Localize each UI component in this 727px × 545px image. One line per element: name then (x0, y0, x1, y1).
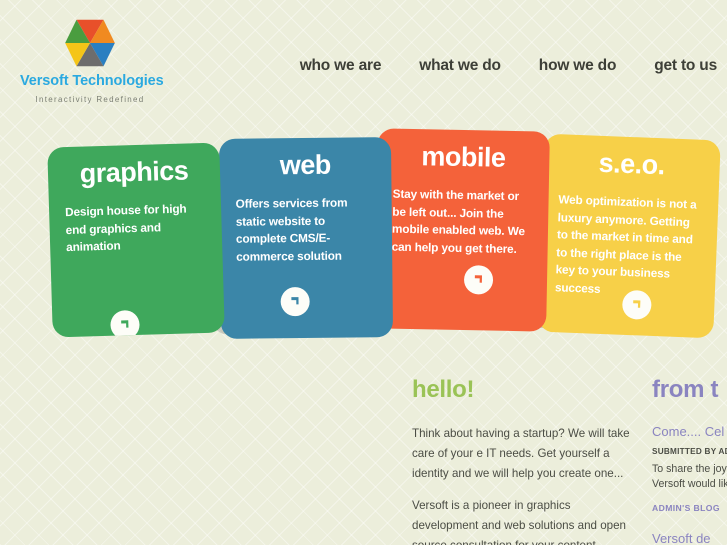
site-header: Versoft Technologies Interactivity Redef… (0, 0, 727, 120)
service-card-web[interactable]: web Offers services from static website … (219, 137, 393, 339)
nav-item-how-we-do[interactable]: how we do (539, 57, 616, 75)
blog-submitted-by: SUBMITTED BY ADM (652, 447, 727, 456)
hello-column: hello! Think about having a startup? We … (412, 378, 636, 545)
arrow-right-icon[interactable] (622, 290, 652, 320)
card-title-seo: s.e.o. (559, 148, 704, 181)
card-title-web: web (235, 151, 375, 179)
arrow-right-icon[interactable] (110, 310, 140, 338)
blog-next-post-title[interactable]: Versoft de (652, 531, 727, 545)
blog-excerpt-line-2: Versoft would like (652, 477, 727, 493)
lower-content: hello! Think about having a startup? We … (0, 378, 727, 545)
card-body-graphics: Design house for high end graphics and a… (65, 200, 207, 257)
brand-tagline: Interactivity Redefined (20, 95, 160, 104)
main-navigation: who we are what we do how we do get to u… (300, 57, 717, 75)
blog-excerpt-line-1: To share the joy (652, 462, 727, 478)
blog-tags: ADMIN'S BLOG RE (652, 503, 727, 513)
brand-logo[interactable]: Versoft Technologies Interactivity Redef… (20, 16, 160, 104)
nav-item-get-to-us[interactable]: get to us (654, 57, 717, 75)
card-body-mobile: Stay with the market or be left out... J… (391, 186, 532, 259)
service-card-seo[interactable]: s.e.o. Web optimization is not a luxury … (537, 134, 720, 339)
card-title-graphics: graphics (64, 157, 205, 188)
service-cards: graphics Design house for high end graph… (0, 118, 727, 348)
hexagon-logo-icon (63, 16, 117, 70)
nav-item-who-we-are[interactable]: who we are (300, 57, 382, 75)
card-title-mobile: mobile (393, 143, 533, 173)
hello-paragraph-1: Think about having a startup? We will ta… (412, 424, 636, 484)
blog-tag-admins-blog[interactable]: ADMIN'S BLOG (652, 503, 720, 513)
service-card-mobile[interactable]: mobile Stay with the market or be left o… (374, 128, 550, 331)
brand-name: Versoft Technologies (20, 74, 160, 90)
nav-item-what-we-do[interactable]: what we do (419, 57, 501, 75)
blog-post-title[interactable]: Come.... Cel (652, 424, 727, 440)
card-body-web: Offers services from static website to c… (236, 194, 377, 266)
blog-heading: from t (652, 378, 727, 402)
service-card-graphics[interactable]: graphics Design house for high end graph… (47, 142, 225, 337)
card-body-seo: Web optimization is not a luxury anymore… (555, 191, 703, 302)
arrow-right-icon[interactable] (464, 265, 494, 295)
hello-paragraph-2: Versoft is a pioneer in graphics develop… (412, 496, 636, 545)
blog-column: from t Come.... Cel SUBMITTED BY ADM To … (652, 378, 727, 545)
hello-heading: hello! (412, 378, 636, 402)
arrow-right-icon[interactable] (281, 287, 310, 316)
